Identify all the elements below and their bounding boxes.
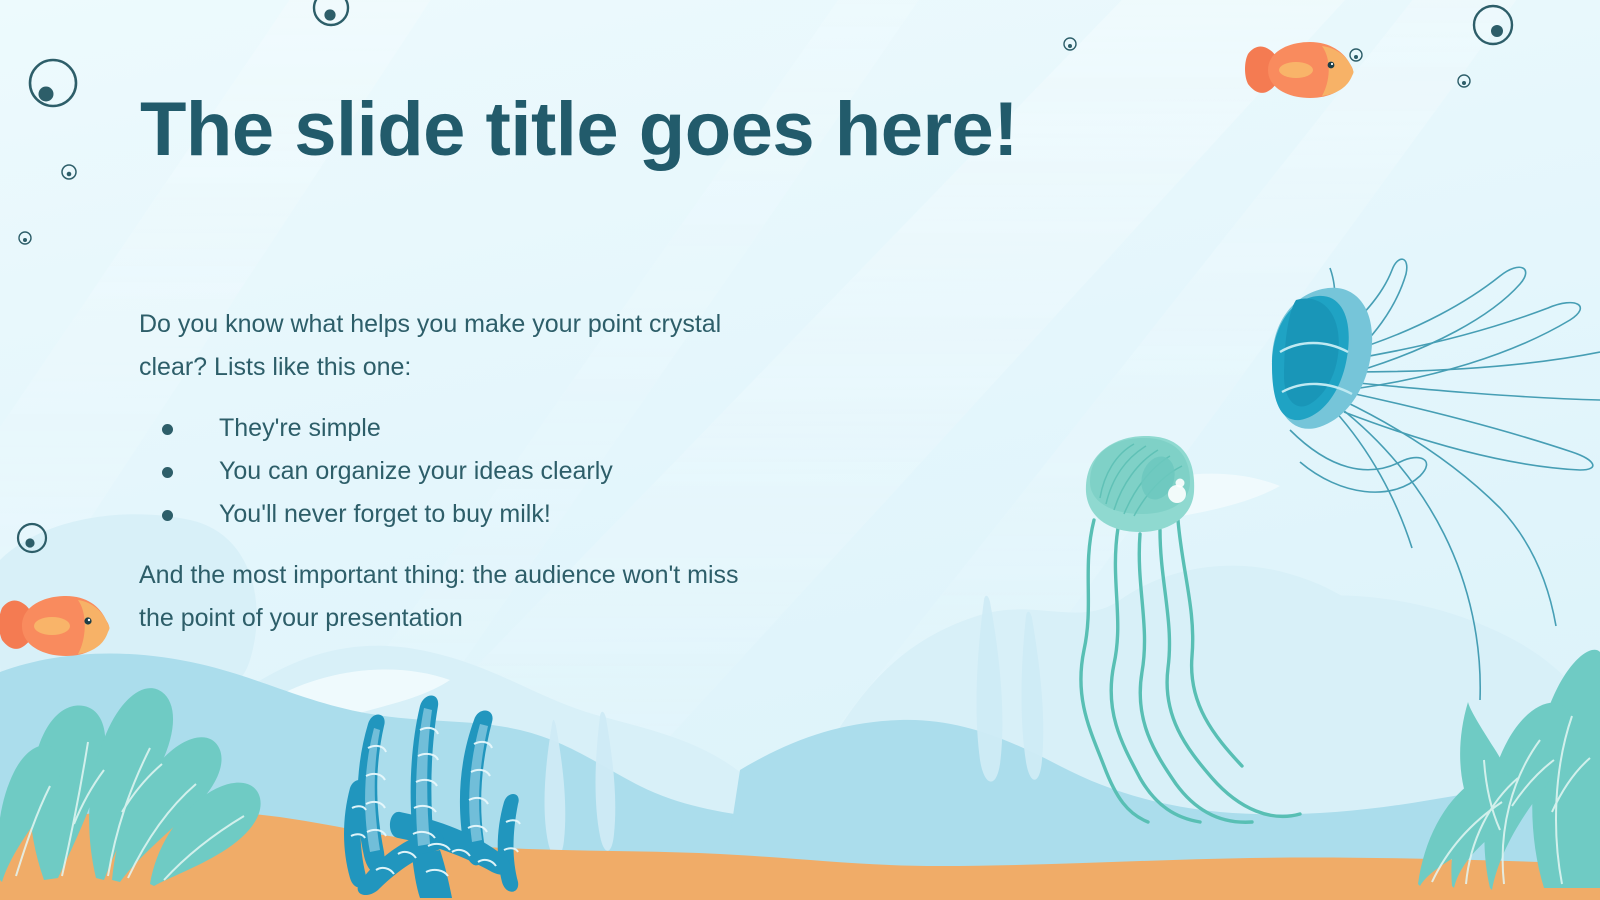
page-title: The slide title goes here! xyxy=(140,92,1140,168)
list-item-label: They're simple xyxy=(219,414,381,442)
list-item: They're simple xyxy=(139,407,819,450)
closing-paragraph: And the most important thing: the audien… xyxy=(139,554,779,640)
bullet-dot-icon xyxy=(162,467,173,478)
intro-paragraph: Do you know what helps you make your poi… xyxy=(139,303,789,389)
list-item: You can organize your ideas clearly xyxy=(139,450,819,493)
bullet-dot-icon xyxy=(162,424,173,435)
bullet-dot-icon xyxy=(162,510,173,521)
list-item: You'll never forget to buy milk! xyxy=(139,493,819,536)
slide-canvas: The slide title goes here! Do you know w… xyxy=(0,0,1600,900)
list-item-label: You can organize your ideas clearly xyxy=(219,457,613,485)
bullet-list: They're simple You can organize your ide… xyxy=(139,407,819,536)
list-item-label: You'll never forget to buy milk! xyxy=(219,500,551,528)
slide-body: Do you know what helps you make your poi… xyxy=(139,303,819,640)
slide-content: The slide title goes here! Do you know w… xyxy=(0,0,1600,900)
